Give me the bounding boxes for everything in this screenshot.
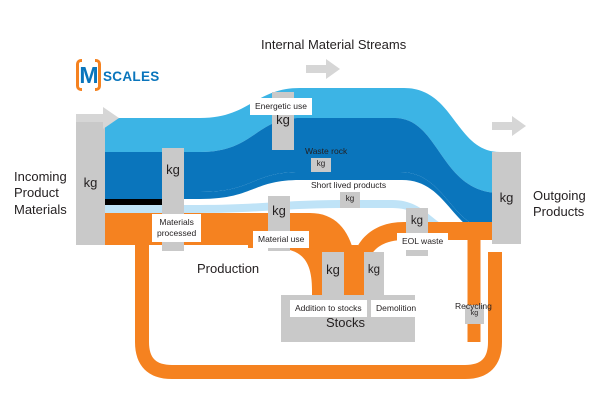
callout-demolition[interactable]: Demolition [371, 300, 421, 317]
callout-eol-waste-label: EOL waste [402, 236, 443, 246]
callout-addition-to-stocks-label: Addition to stocks [295, 303, 362, 313]
logo-mark-letter: M [76, 59, 101, 91]
logo[interactable]: M SCALES [76, 59, 158, 91]
label-recycling: Recycling [455, 301, 492, 311]
callout-eol-waste[interactable]: EOL waste [397, 233, 448, 250]
callout-materials-processed[interactable]: Materials processed [152, 214, 201, 242]
stocks-label: Stocks [326, 315, 365, 330]
arrow-internal-icon [306, 59, 340, 79]
callout-materials-processed-line1: Materials [157, 217, 196, 228]
incoming-heading-line3: Materials [14, 202, 67, 218]
incoming-node-kg: kg [76, 175, 105, 190]
black-separator-band [105, 199, 171, 205]
materials-processed-kg: kg [162, 162, 184, 177]
arrow-outgoing-icon [492, 116, 526, 136]
callout-materials-processed-line2: processed [157, 228, 196, 239]
callout-energetic-use-label: Energetic use [255, 101, 307, 111]
callout-demolition-label: Demolition [376, 303, 416, 313]
label-waste-rock: Waste rock [305, 146, 347, 156]
outgoing-heading-line1: Outgoing [533, 188, 586, 204]
incoming-heading: Incoming Product Materials [14, 169, 67, 218]
eol-waste-kg: kg [406, 215, 428, 227]
material-use-kg: kg [268, 203, 290, 218]
short-lived-products-kg: kg [340, 194, 360, 203]
incoming-heading-line2: Product [14, 185, 67, 201]
callout-energetic-use[interactable]: Energetic use [250, 98, 312, 115]
callout-material-use[interactable]: Material use [253, 231, 309, 248]
demolition-kg: kg [364, 264, 384, 276]
recycling-kg: kg [465, 310, 484, 317]
outgoing-node-kg: kg [492, 190, 521, 205]
page-title: Internal Material Streams [261, 37, 406, 52]
logo-wordmark: SCALES [103, 69, 160, 84]
waste-rock-kg: kg [311, 159, 331, 168]
label-short-lived-products: Short lived products [311, 180, 386, 190]
diagram-canvas: M SCALES Internal Material Streams Incom… [0, 0, 601, 417]
outgoing-heading-line2: Products [533, 204, 586, 220]
callout-material-use-label: Material use [258, 234, 304, 244]
incoming-heading-line1: Incoming [14, 169, 67, 185]
outgoing-heading: Outgoing Products [533, 188, 586, 221]
production-label: Production [197, 261, 259, 276]
addition-to-stocks-kg: kg [322, 262, 344, 277]
